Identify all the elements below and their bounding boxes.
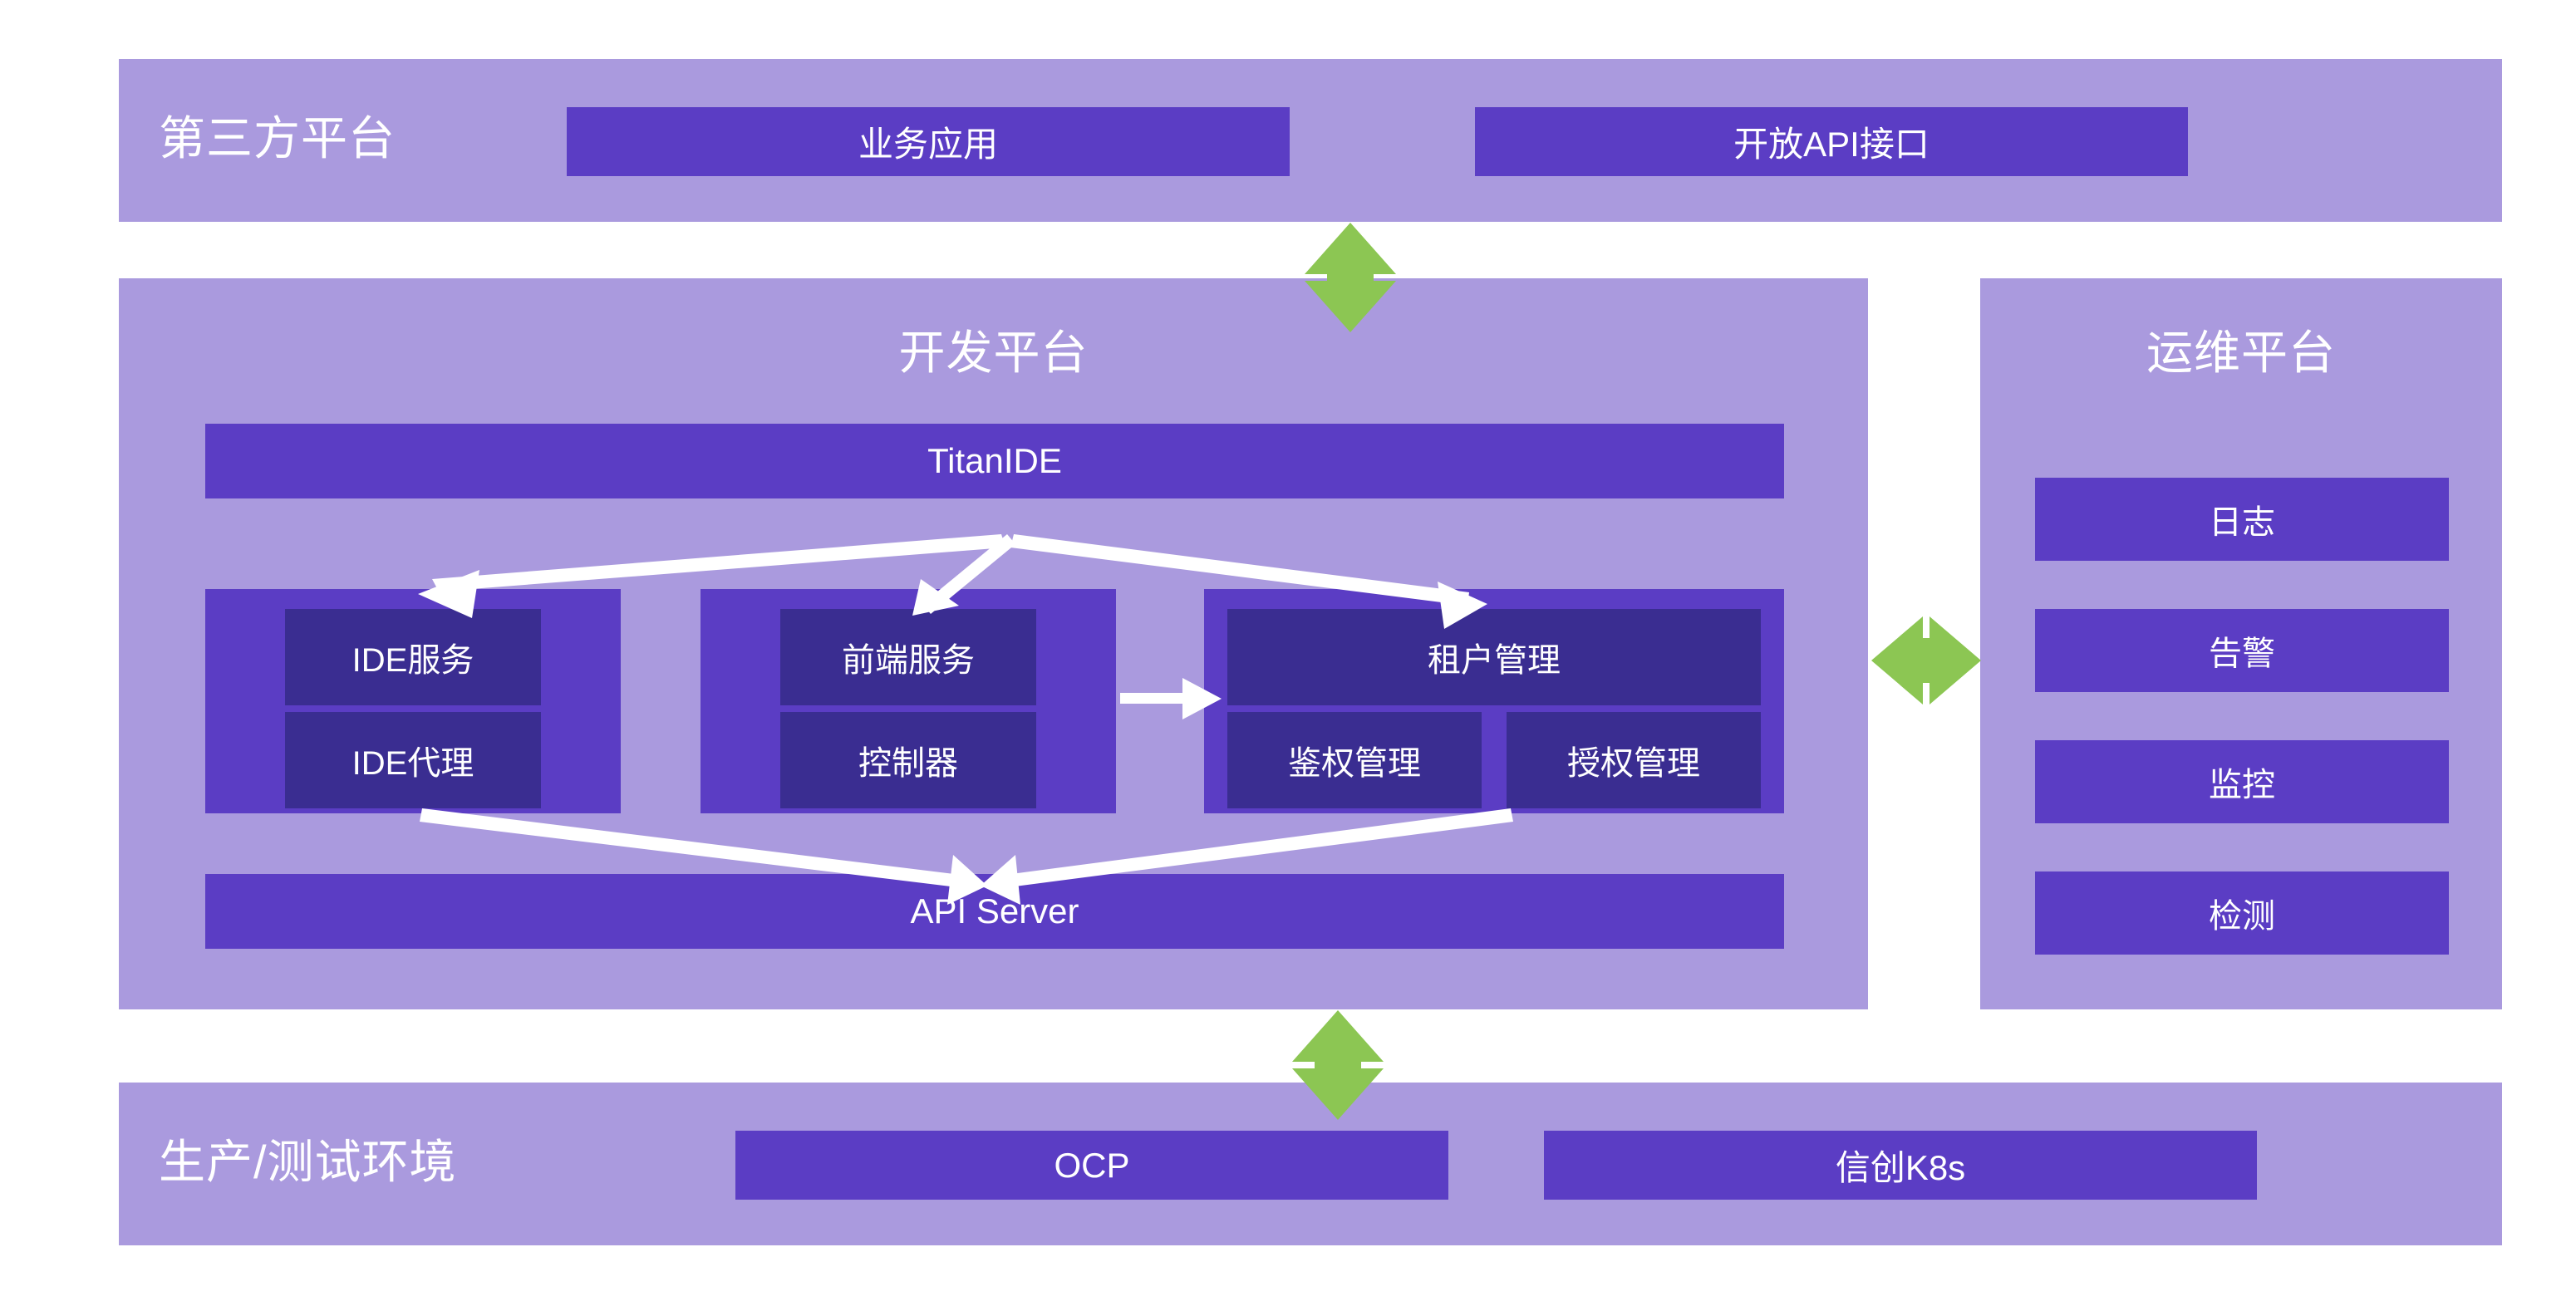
ide-agent-block[interactable]: IDE代理 <box>285 712 541 808</box>
dev-platform-panel: 开发平台 TitanIDE IDE服务 IDE代理 前端服务 控制器 租户管理 … <box>119 278 1868 1009</box>
detection-block[interactable]: 检测 <box>2035 871 2449 955</box>
ops-platform-title: 运维平台 <box>1980 330 2502 376</box>
environment-title: 生产/测试环境 <box>159 1139 457 1186</box>
ide-service-block[interactable]: IDE服务 <box>285 609 541 705</box>
api-server-block[interactable]: API Server <box>205 874 1784 949</box>
dev-platform-title: 开发平台 <box>119 330 1868 376</box>
xinchuang-k8s-block[interactable]: 信创K8s <box>1544 1131 2257 1200</box>
monitoring-block[interactable]: 监控 <box>2035 740 2449 823</box>
tenant-management-block[interactable]: 租户管理 <box>1227 609 1761 705</box>
log-block[interactable]: 日志 <box>2035 478 2449 561</box>
controller-block[interactable]: 控制器 <box>780 712 1036 808</box>
frontend-service-group: 前端服务 控制器 <box>701 589 1116 813</box>
third-party-platform-title: 第三方平台 <box>159 115 396 162</box>
ide-service-group: IDE服务 IDE代理 <box>205 589 621 813</box>
open-api-interface-block[interactable]: 开放API接口 <box>1475 107 2188 176</box>
titanide-block[interactable]: TitanIDE <box>205 424 1784 498</box>
ops-platform-panel: 运维平台 日志 告警 监控 检测 <box>1980 278 2502 1009</box>
authorization-management-block[interactable]: 授权管理 <box>1507 712 1761 808</box>
business-application-block[interactable]: 业务应用 <box>567 107 1290 176</box>
architecture-diagram: 第三方平台 业务应用 开放API接口 开发平台 TitanIDE IDE服务 I… <box>0 0 2576 1306</box>
tenant-management-group: 租户管理 鉴权管理 授权管理 <box>1204 589 1784 813</box>
dev-platform-to-ops-platform-arrow-icon <box>1871 616 1981 705</box>
authentication-management-block[interactable]: 鉴权管理 <box>1227 712 1482 808</box>
third-party-platform-panel: 第三方平台 业务应用 开放API接口 <box>119 59 2502 222</box>
frontend-service-block[interactable]: 前端服务 <box>780 609 1036 705</box>
environment-panel: 生产/测试环境 OCP 信创K8s <box>119 1083 2502 1245</box>
alarm-block[interactable]: 告警 <box>2035 609 2449 692</box>
ocp-block[interactable]: OCP <box>735 1131 1448 1200</box>
